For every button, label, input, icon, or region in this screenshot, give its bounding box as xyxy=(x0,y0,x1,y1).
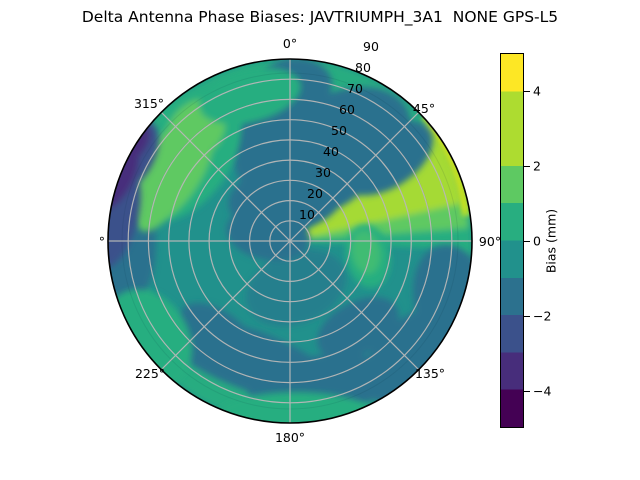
colorbar-tick-label-0: 0 xyxy=(533,233,541,248)
azimuth-tick-180: 180° xyxy=(275,430,305,445)
figure-canvas: Delta Antenna Phase Biases: JAVTRIUMPH_3… xyxy=(0,0,640,480)
polar-plot-axes[interactable]: 0° 45° 90° 135° 180° 225° 270° 315° 10 2… xyxy=(100,38,500,448)
azimuth-tick-45: 45° xyxy=(413,101,435,116)
azimuth-tick-315: 315° xyxy=(134,96,164,111)
radial-tick-20: 20 xyxy=(307,186,323,201)
colorbar-tick-mark-neg4 xyxy=(524,391,530,392)
colorbar-tick-label-2: 2 xyxy=(533,158,541,173)
radial-tick-90: 90 xyxy=(363,39,379,54)
colorbar-tick-mark-neg2 xyxy=(524,316,530,317)
colorbar[interactable]: 4 2 0 −2 −4 xyxy=(500,53,524,428)
colorbar-tick-label-neg4: −4 xyxy=(533,383,551,398)
colorbar-tick-mark-0 xyxy=(524,241,530,242)
radial-tick-70: 70 xyxy=(347,81,363,96)
colorbar-tick-mark-2 xyxy=(524,166,530,167)
page-title: Delta Antenna Phase Biases: JAVTRIUMPH_3… xyxy=(0,8,640,26)
colorbar-tick-label-neg2: −2 xyxy=(533,308,551,323)
azimuth-tick-225: 225° xyxy=(135,366,165,381)
azimuth-tick-90: 90° xyxy=(479,234,500,249)
colorbar-tick-mark-4 xyxy=(524,91,530,92)
radial-tick-50: 50 xyxy=(331,123,347,138)
azimuth-tick-135: 135° xyxy=(415,366,445,381)
azimuth-tick-0: 0° xyxy=(283,38,297,51)
colorbar-gradient xyxy=(500,53,524,428)
colorbar-tick-label-4: 4 xyxy=(533,83,541,98)
colorbar-axis-label: Bias (mm) xyxy=(544,209,559,273)
radial-tick-40: 40 xyxy=(323,144,339,159)
radial-tick-60: 60 xyxy=(339,102,355,117)
radial-tick-30: 30 xyxy=(315,165,331,180)
azimuth-tick-270: 270° xyxy=(100,234,105,249)
radial-tick-10: 10 xyxy=(299,207,315,222)
radial-tick-80: 80 xyxy=(355,60,371,75)
